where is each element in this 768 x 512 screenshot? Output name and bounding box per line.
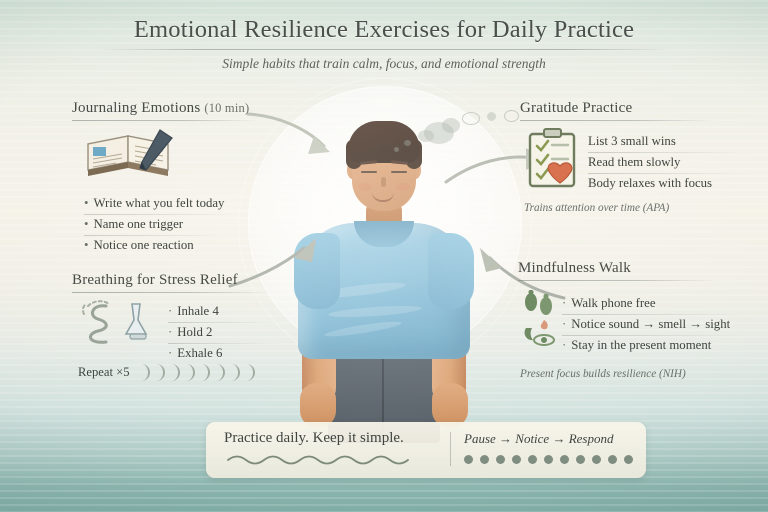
journaling-title: Journaling Emotions (10 min) [72, 100, 302, 117]
progress-dot [544, 455, 553, 464]
journaling-duration: (10 min) [204, 101, 249, 115]
panel-mindfulness[interactable]: Mindfulness Walk ·Walk phone free ·Notic… [518, 260, 750, 281]
journaling-bullets: •Write what you felt today •Name one tri… [84, 194, 284, 256]
gratitude-caption: Trains attention over time (APA) [524, 202, 669, 214]
figure-left-cheek [358, 183, 372, 191]
list-item: Body relaxes with focus [588, 174, 763, 194]
footer-left: Practice daily. Keep it simple. [224, 430, 454, 472]
mindfulness-divider [518, 280, 718, 281]
footer-flow-text: Pause → Notice → Respond [464, 431, 634, 447]
list-item: List 3 small wins [588, 132, 763, 152]
progress-dot [608, 455, 617, 464]
clipboard-checklist-heart-icon [524, 126, 582, 190]
figure-left-closed-eye [361, 171, 377, 173]
list-item: ·Walk phone free [562, 294, 762, 314]
thought-speck-1 [404, 140, 411, 146]
breathing-divider [72, 292, 270, 293]
mindfulness-bullet-0: Walk phone free [571, 296, 655, 310]
list-item: ·Exhale 6 [168, 344, 298, 364]
thought-ring-2 [504, 110, 519, 122]
breathing-repeat-row: Repeat ×5 [78, 364, 298, 381]
figure-left-hand [300, 383, 336, 427]
figure-right-sleeve [428, 233, 474, 309]
journaling-bullet-1: Name one trigger [93, 217, 183, 231]
gratitude-title: Gratitude Practice [520, 100, 746, 117]
progress-dot [560, 455, 569, 464]
repeat-arc [138, 364, 150, 381]
progress-dot [512, 455, 521, 464]
breathing-repeat-arcs [138, 364, 258, 381]
progress-dot [496, 455, 505, 464]
repeat-arc [198, 364, 210, 381]
footer-right: Pause → Notice → Respond [464, 431, 634, 464]
progress-dot [592, 455, 601, 464]
list-item: ·Inhale 4 [168, 302, 298, 322]
repeat-arc [153, 364, 165, 381]
calm-person-illustration [250, 95, 518, 435]
progress-dot [576, 455, 585, 464]
repeat-arc [213, 364, 225, 381]
thought-speck-2 [394, 147, 399, 152]
footer-divider [450, 432, 451, 466]
gratitude-bullet-1: Read them slowly [588, 155, 680, 169]
mindfulness-bullets: ·Walk phone free ·Notice sound → smell →… [562, 294, 762, 356]
gratitude-bullet-0: List 3 small wins [588, 134, 676, 148]
list-item: •Name one trigger [84, 215, 284, 235]
breath-swirl-icon [80, 298, 158, 350]
progress-dot [464, 455, 473, 464]
infographic-poster: Emotional Resilience Exercises for Daily… [0, 0, 768, 512]
thought-speck-3 [487, 112, 496, 121]
footer-progress-dots [464, 455, 634, 464]
progress-dot [624, 455, 633, 464]
title-divider [96, 49, 672, 50]
list-item: •Write what you felt today [84, 194, 284, 214]
open-book-with-pen-icon [80, 126, 180, 182]
breathing-title: Breathing for Stress Relief [72, 272, 302, 289]
mindfulness-bullet-2: Stay in the present moment [571, 338, 711, 352]
mindfulness-bullet-1: Notice sound → smell → sight [571, 317, 730, 331]
list-item: ·Hold 2 [168, 323, 298, 343]
repeat-arc [243, 364, 255, 381]
repeat-arc [228, 364, 240, 381]
breathing-bullets: ·Inhale 4 ·Hold 2 ·Exhale 6 [168, 302, 298, 364]
progress-dot [480, 455, 489, 464]
footprints-senses-icon [522, 290, 562, 352]
journaling-divider [72, 120, 260, 121]
panel-journaling[interactable]: Journaling Emotions (10 min) •Write what… [72, 100, 302, 121]
breathing-repeat-label: Repeat ×5 [78, 365, 130, 380]
footer-wave-line [224, 451, 439, 467]
breathing-bullet-1: Hold 2 [177, 325, 212, 339]
page-subtitle: Simple habits that train calm, focus, an… [0, 56, 768, 72]
list-item: ·Stay in the present moment [562, 336, 762, 356]
figure-right-hand [432, 383, 468, 427]
figure-right-cheek [396, 183, 410, 191]
repeat-arc [183, 364, 195, 381]
gratitude-divider [520, 120, 716, 121]
breathing-bullet-0: Inhale 4 [177, 304, 219, 318]
page-title: Emotional Resilience Exercises for Daily… [0, 16, 768, 44]
journaling-bullet-0: Write what you felt today [93, 196, 224, 210]
thought-cloud-icon [418, 118, 464, 146]
repeat-arc [168, 364, 180, 381]
gratitude-bullet-2: Body relaxes with focus [588, 176, 712, 190]
figure-nose [381, 177, 386, 187]
panel-breathing[interactable]: Breathing for Stress Relief ·Inhale 4 ·H… [72, 272, 302, 293]
breathing-bullet-2: Exhale 6 [177, 346, 222, 360]
mindfulness-caption: Present focus builds resilience (NIH) [520, 368, 686, 380]
journaling-title-text: Journaling Emotions [72, 100, 200, 116]
list-item: Read them slowly [588, 153, 763, 173]
gratitude-bullets: List 3 small wins Read them slowly Body … [588, 132, 763, 194]
list-item: ·Notice sound → smell → sight [562, 315, 762, 335]
footer-bar[interactable]: Practice daily. Keep it simple. Pause → … [206, 422, 646, 478]
progress-dot [528, 455, 537, 464]
mindfulness-title: Mindfulness Walk [518, 260, 750, 277]
thought-ring-1 [462, 112, 480, 125]
list-item: •Notice one reaction [84, 236, 284, 256]
figure-right-closed-eye [391, 171, 407, 173]
figure-left-sleeve [294, 233, 340, 309]
footer-slogan: Practice daily. Keep it simple. [224, 430, 454, 447]
journaling-bullet-2: Notice one reaction [93, 238, 193, 252]
panel-gratitude[interactable]: Gratitude Practice List 3 small wins Rea… [520, 100, 746, 121]
